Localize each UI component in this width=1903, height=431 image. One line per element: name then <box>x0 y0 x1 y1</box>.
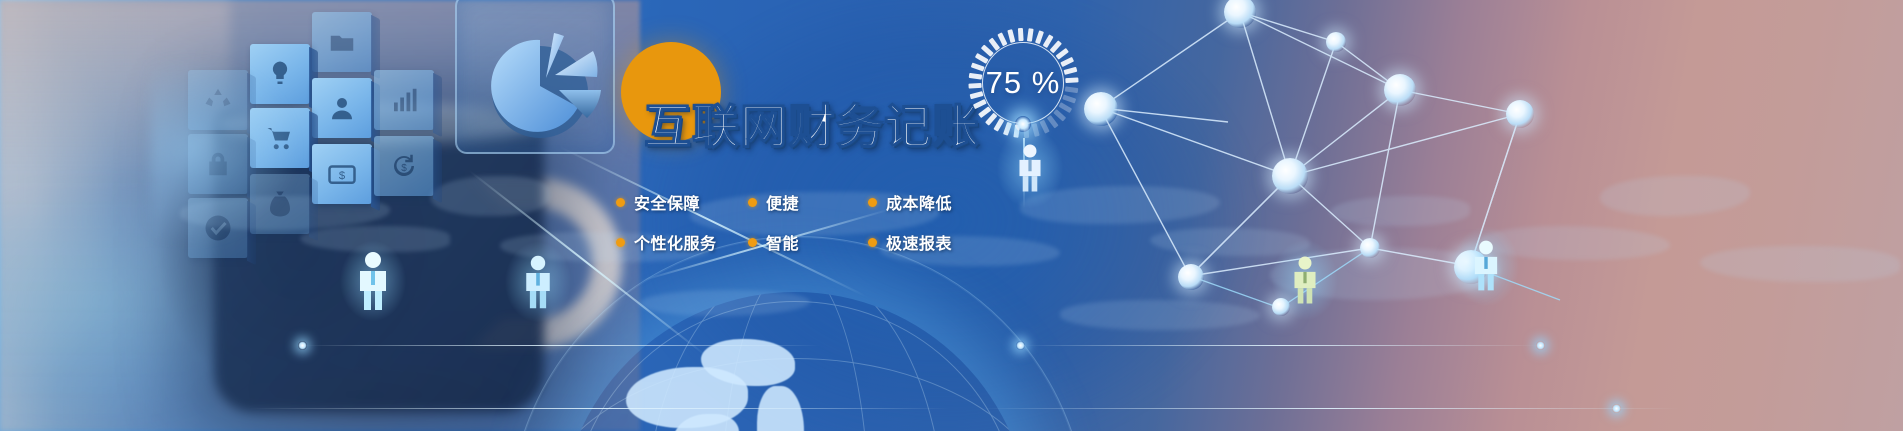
person-glyph <box>352 250 394 312</box>
svg-text:$: $ <box>401 163 407 174</box>
rail-node <box>298 341 307 350</box>
network-node <box>1178 264 1204 290</box>
person-glyph <box>1013 142 1047 194</box>
lightbulb-icon <box>265 59 295 89</box>
feature-label: 智能 <box>766 230 799 254</box>
icon-cube-cluster: $ $ <box>162 8 422 258</box>
cube-refresh-dollar-icon: $ <box>374 136 434 196</box>
clock-check-icon <box>203 213 233 243</box>
cube-clock-check-icon <box>188 198 248 258</box>
person-silhouette-icon <box>1013 142 1047 194</box>
feature-item: 安全保障 <box>616 190 748 214</box>
feature-row: 个性化服务 智能 极速报表 <box>616 222 1036 262</box>
network-node <box>1326 32 1346 52</box>
feature-item: 极速报表 <box>868 230 952 254</box>
cube-folder-icon <box>312 12 372 72</box>
feature-item: 成本降低 <box>868 190 952 214</box>
person-glyph <box>519 254 557 310</box>
network-node <box>1360 238 1380 258</box>
bullet-dot-icon <box>868 198 877 207</box>
feature-label: 极速报表 <box>886 230 952 254</box>
network-node <box>1506 100 1534 128</box>
feature-item: 智能 <box>748 230 868 254</box>
promotional-banner: $ $ <box>0 0 1903 431</box>
recycle-icon <box>203 85 233 115</box>
light-rail <box>980 408 1680 409</box>
bullet-dot-icon <box>616 238 625 247</box>
page-title: 互联网财务记账 <box>644 103 980 150</box>
network-node <box>1084 92 1118 126</box>
light-rail <box>300 345 820 346</box>
person-silhouette-icon <box>1468 238 1504 293</box>
lock-icon <box>203 149 233 179</box>
feature-item: 个性化服务 <box>616 230 748 254</box>
bar-chart-icon <box>389 85 419 115</box>
rail-node <box>1016 341 1025 350</box>
light-rail <box>1020 345 1540 346</box>
person-glyph <box>1288 254 1322 306</box>
person-silhouette-icon <box>519 254 557 310</box>
cube-lock-icon <box>188 134 248 194</box>
cube-credit-card-dollar-icon: $ <box>312 144 372 204</box>
person-silhouette-icon <box>352 250 394 312</box>
cube-lightbulb-icon <box>250 44 310 104</box>
feature-label: 成本降低 <box>886 190 952 214</box>
feature-label: 安全保障 <box>634 190 700 214</box>
refresh-dollar-icon: $ <box>389 151 419 181</box>
feature-item: 便捷 <box>748 190 868 214</box>
rail-node <box>1612 404 1621 413</box>
person-glyph <box>1468 238 1504 293</box>
feature-label: 便捷 <box>766 190 799 214</box>
cube-money-bag-icon <box>250 174 310 234</box>
folder-icon <box>327 27 357 57</box>
cube-shopping-cart-icon <box>250 108 310 168</box>
light-rail <box>250 408 950 409</box>
rail-node <box>1536 341 1545 350</box>
exploded-pie-chart-icon <box>478 6 618 146</box>
money-bag-icon <box>265 189 295 219</box>
svg-text:$: $ <box>339 170 346 182</box>
network-node <box>1384 74 1416 106</box>
feature-row: 安全保障 便捷 成本降低 <box>616 182 1036 222</box>
credit-card-dollar-icon: $ <box>327 159 357 189</box>
cube-recycle-icon <box>188 70 248 130</box>
bullet-dot-icon <box>748 238 757 247</box>
shopping-cart-icon <box>265 123 295 153</box>
bullet-dot-icon <box>748 198 757 207</box>
person-icon <box>327 93 357 123</box>
bullet-dot-icon <box>616 198 625 207</box>
network-node <box>1272 158 1308 194</box>
cube-bar-chart-icon <box>374 70 434 130</box>
bullet-dot-icon <box>868 238 877 247</box>
cube-person-icon <box>312 78 372 138</box>
feature-list: 安全保障 便捷 成本降低 个性化服务 智能 极速报表 <box>616 182 1036 262</box>
feature-label: 个性化服务 <box>634 230 717 254</box>
person-silhouette-icon <box>1288 254 1322 306</box>
